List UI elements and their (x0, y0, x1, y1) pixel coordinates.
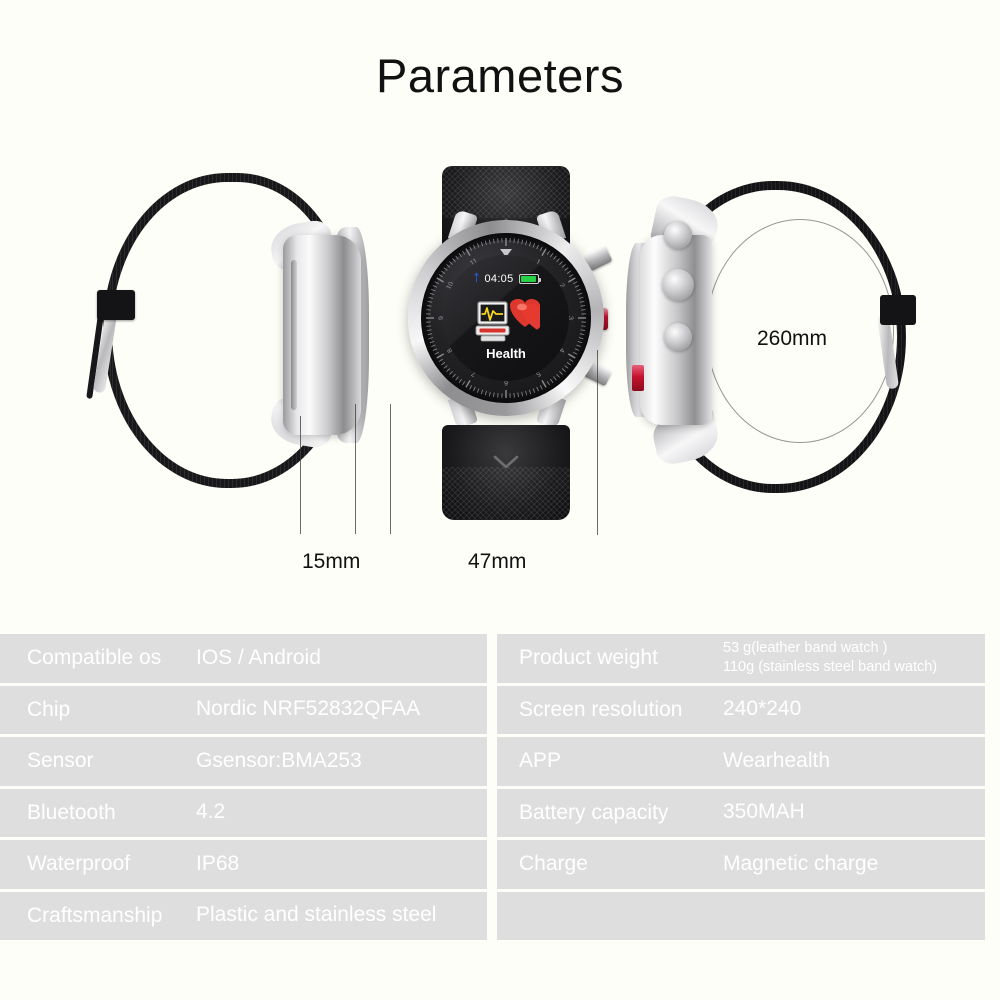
crown-button-red-right[interactable] (632, 365, 644, 391)
watch-screen[interactable]: ᛏ 04:05 (443, 255, 569, 381)
watch-left-side-view (85, 165, 385, 520)
table-row: Compatible osIOS / Android (0, 634, 487, 683)
crown-button-3[interactable] (664, 323, 692, 351)
bezel-outer: 123456789101112 ᛏ 04:05 (421, 233, 591, 403)
spec-column-left: Compatible osIOS / AndroidChipNordic NRF… (0, 634, 487, 946)
table-row: Product weight53 g(leather band watch ) … (497, 634, 985, 683)
table-row (497, 892, 985, 941)
product-illustration-area: 15mm 47mm 123456789101112 (0, 0, 1000, 620)
watch-case-front: 123456789101112 ᛏ 04:05 (408, 220, 604, 416)
app-label: Health (443, 346, 569, 361)
heart-ecg-icon (472, 299, 540, 350)
leader-line-3 (390, 404, 391, 534)
dimension-label-band-width: 15mm (302, 550, 360, 574)
table-row: APPWearhealth (497, 737, 985, 786)
spec-key: Compatible os (0, 646, 196, 670)
spec-key: APP (497, 749, 723, 773)
table-row: SensorGsensor:BMA253 (0, 737, 487, 786)
spec-value: 350MAH (723, 800, 805, 825)
battery-icon (519, 274, 539, 284)
leader-line-2 (355, 404, 356, 534)
table-row: Bluetooth4.2 (0, 789, 487, 838)
spec-value: IOS / Android (196, 646, 321, 671)
dimension-label-case-diameter: 47mm (468, 550, 526, 574)
strap-keeper-right (880, 295, 916, 325)
spec-value: IP68 (196, 852, 239, 877)
strap-keeper-left (97, 290, 135, 320)
spec-value: Gsensor:BMA253 (196, 749, 362, 774)
table-row: CraftsmanshipPlastic and stainless steel (0, 892, 487, 941)
status-bar: ᛏ 04:05 (443, 273, 569, 285)
spec-key: Waterproof (0, 852, 196, 876)
spec-value: 53 g(leather band watch ) 110g (stainles… (723, 639, 937, 677)
spec-key: Bluetooth (0, 801, 196, 825)
table-row: Battery capacity350MAH (497, 789, 985, 838)
crown-button-2[interactable] (662, 269, 694, 301)
spec-key: Product weight (497, 646, 723, 670)
watch-front-view: 123456789101112 ᛏ 04:05 (400, 160, 630, 520)
case-groove-left (291, 260, 297, 410)
spec-value: Wearhealth (723, 749, 830, 774)
spec-key: Battery capacity (497, 801, 723, 825)
crown-button-1[interactable] (664, 221, 692, 249)
table-row: ChipNordic NRF52832QFAA (0, 686, 487, 735)
spec-key: Chip (0, 698, 196, 722)
leader-line-center (597, 350, 598, 535)
spec-key: Craftsmanship (0, 904, 196, 928)
leader-line-1 (300, 416, 301, 534)
dimension-label-band-circumference: 260mm (757, 327, 827, 351)
strap-bottom-center (442, 425, 570, 520)
spec-value: Nordic NRF52832QFAA (196, 697, 420, 722)
specifications-table: Compatible osIOS / AndroidChipNordic NRF… (0, 634, 1000, 946)
bluetooth-icon: ᛏ (473, 274, 479, 284)
table-row: WaterproofIP68 (0, 840, 487, 889)
spec-value: 240*240 (723, 697, 801, 722)
spec-value: 4.2 (196, 800, 225, 825)
spec-column-right: Product weight53 g(leather band watch ) … (497, 634, 985, 946)
spec-value: Magnetic charge (723, 852, 878, 877)
table-row: Screen resolution240*240 (497, 686, 985, 735)
spec-key: Charge (497, 852, 723, 876)
strap-texture-bottom (442, 467, 570, 520)
table-row: ChargeMagnetic charge (497, 840, 985, 889)
spec-key: Screen resolution (497, 698, 723, 722)
spec-value: Plastic and stainless steel (196, 903, 436, 928)
spec-key: Sensor (0, 749, 196, 773)
clock-time: 04:05 (484, 273, 513, 285)
